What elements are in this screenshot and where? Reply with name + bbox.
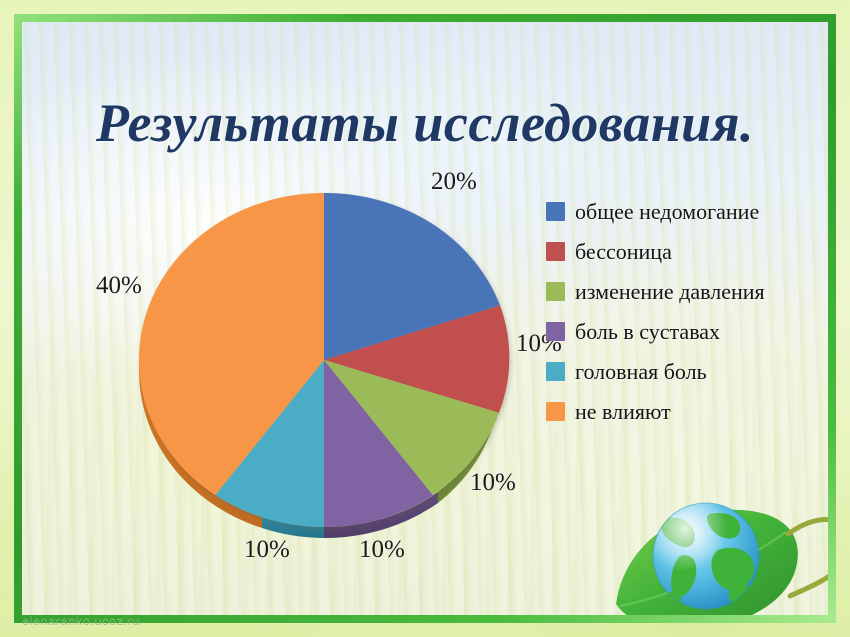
- legend-item-obschee-nedomoganie[interactable]: общее недомогание: [546, 198, 766, 225]
- pie-chart: [122, 162, 542, 562]
- legend-swatch-cyan: [546, 362, 565, 381]
- chart-legend: общее недомогание бессоница изменение да…: [546, 198, 766, 425]
- legend-swatch-purple: [546, 322, 565, 341]
- legend-item-golovnaya-bol[interactable]: головная боль: [546, 358, 766, 385]
- pie-slices: [139, 193, 509, 527]
- pie-label-10-percent-green: 10%: [470, 469, 516, 497]
- legend-label: бессоница: [575, 238, 672, 265]
- pie-label-40-percent-orange: 40%: [96, 272, 142, 300]
- legend-label: не влияют: [575, 398, 671, 425]
- globe-on-leaf-icon: [610, 484, 836, 623]
- legend-label: изменение давления: [575, 278, 765, 305]
- globe-leaf-svg: [610, 484, 836, 623]
- legend-label: общее недомогание: [575, 198, 759, 225]
- legend-swatch-red: [546, 242, 565, 261]
- slide-green-frame: Результаты исследования.: [14, 14, 836, 623]
- legend-label: боль в суставах: [575, 318, 720, 345]
- page-title: Результаты исследования.: [22, 92, 828, 154]
- legend-item-bol-v-sustavah[interactable]: боль в суставах: [546, 318, 766, 345]
- legend-swatch-green: [546, 282, 565, 301]
- legend-item-izmenenie-davleniya[interactable]: изменение давления: [546, 278, 766, 305]
- pie-chart-svg: [122, 162, 542, 562]
- pie-label-10-percent-cyan: 10%: [244, 536, 290, 564]
- legend-swatch-orange: [546, 402, 565, 421]
- legend-swatch-blue: [546, 202, 565, 221]
- legend-item-ne-vliyayut[interactable]: не влияют: [546, 398, 766, 425]
- pie-label-10-percent-purple: 10%: [359, 536, 405, 564]
- presentation-slide: Результаты исследования.: [0, 0, 850, 637]
- legend-label: головная боль: [575, 358, 707, 385]
- pie-label-20-percent-blue: 20%: [431, 168, 477, 196]
- legend-item-bessonica[interactable]: бессоница: [546, 238, 766, 265]
- site-watermark: elenaranko.ucoz.ru: [22, 613, 140, 628]
